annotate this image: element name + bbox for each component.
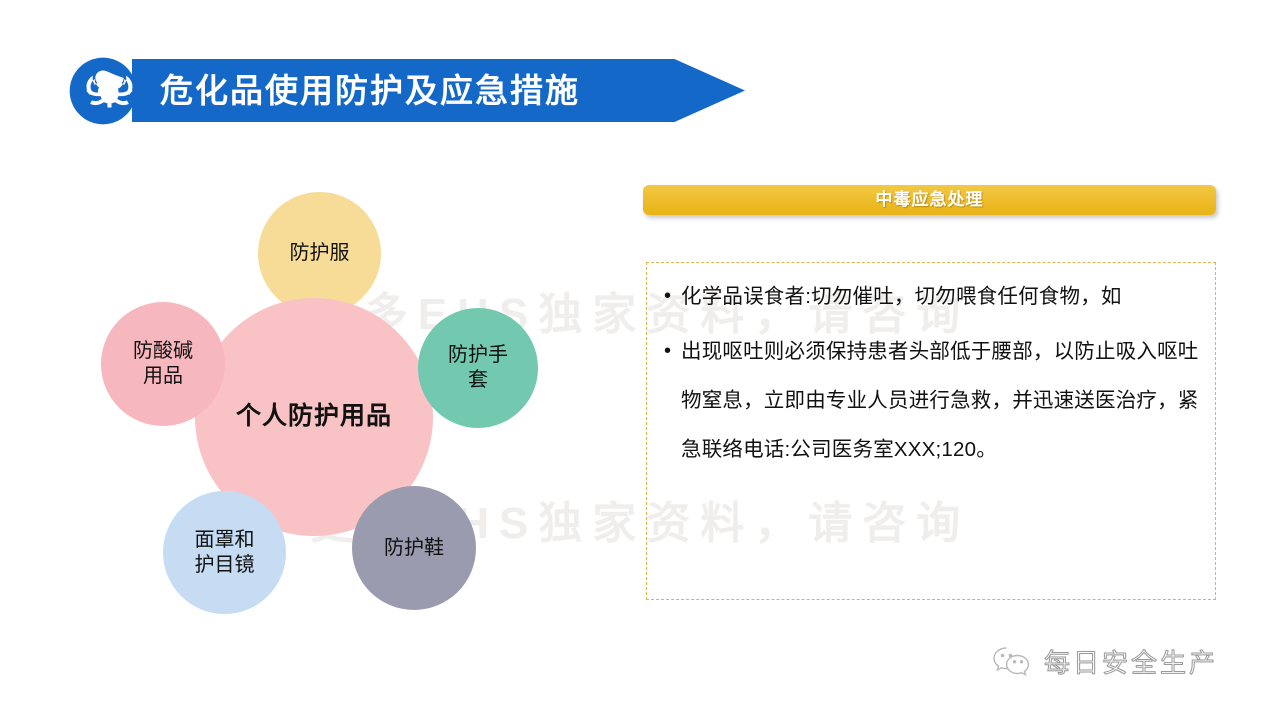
footer-account-name: 每日安全生产 bbox=[1044, 643, 1218, 680]
ppe-venn-diagram: 防护服 防酸碱 用品 防护手 套 面罩和 护目镜 防护鞋 个人防护用品 bbox=[80, 180, 580, 620]
bullet-marker: • bbox=[664, 272, 681, 321]
venn-center-label: 个人防护用品 bbox=[236, 401, 392, 432]
slide-canvas: 更多EHS独家资料，请咨询 更多EHS独家资料，请咨询 危化品使用防护及应急措施… bbox=[0, 0, 1280, 720]
venn-bubble-label: 防酸碱 用品 bbox=[133, 339, 193, 389]
venn-bubble-protective-shoes: 防护鞋 bbox=[352, 486, 476, 610]
title-banner: 危化品使用防护及应急措施 bbox=[132, 59, 745, 122]
venn-bubble-protective-gloves: 防护手 套 bbox=[418, 308, 538, 428]
wechat-icon bbox=[992, 645, 1032, 679]
bullet-text: 化学品误食者:切勿催吐，切勿喂食任何食物，如 bbox=[681, 272, 1210, 321]
venn-bubble-acid-alkali-supplies: 防酸碱 用品 bbox=[101, 302, 225, 426]
list-item: • 化学品误食者:切勿催吐，切勿喂食任何食物，如 bbox=[664, 272, 1210, 321]
venn-bubble-face-shield-goggles: 面罩和 护目镜 bbox=[163, 491, 286, 614]
biohazard-icon bbox=[69, 57, 137, 125]
bullet-marker: • bbox=[664, 327, 681, 376]
panel-header-label: 中毒应急处理 bbox=[643, 185, 1216, 215]
venn-bubble-label: 防护鞋 bbox=[384, 536, 444, 561]
page-title: 危化品使用防护及应急措施 bbox=[160, 59, 580, 122]
emergency-bullet-list: • 化学品误食者:切勿催吐，切勿喂食任何食物，如 • 出现呕吐则必须保持患者头部… bbox=[664, 272, 1210, 480]
venn-bubble-label: 防护手 套 bbox=[448, 343, 508, 393]
footer-branding: 每日安全生产 bbox=[992, 643, 1218, 680]
venn-bubble-label: 面罩和 护目镜 bbox=[195, 528, 255, 578]
poisoning-emergency-header: 中毒应急处理 bbox=[643, 185, 1216, 215]
list-item: • 出现呕吐则必须保持患者头部低于腰部，以防止吸入呕吐物窒息，立即由专业人员进行… bbox=[664, 327, 1210, 474]
venn-bubble-protective-clothing: 防护服 bbox=[258, 192, 381, 315]
venn-bubble-label: 防护服 bbox=[290, 241, 350, 266]
bullet-text: 出现呕吐则必须保持患者头部低于腰部，以防止吸入呕吐物窒息，立即由专业人员进行急救… bbox=[681, 327, 1210, 474]
